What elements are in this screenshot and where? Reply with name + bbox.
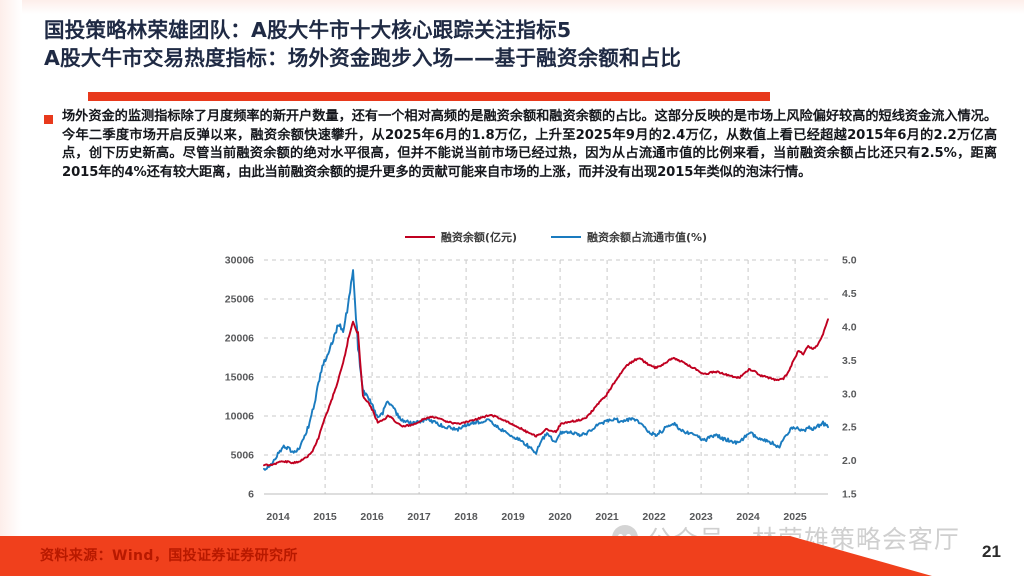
y-axis-left-tick: 30006	[225, 255, 254, 267]
x-axis-tick: 2019	[501, 511, 525, 523]
y-axis-left-tick: 5006	[231, 450, 255, 462]
x-axis-tick: 2014	[266, 511, 290, 523]
chart-container: 融资余额(亿元) 融资余额占流通市值(%) 650061000615006200…	[206, 226, 906, 532]
legend-label-0: 融资余额(亿元)	[441, 229, 517, 245]
chart-legend: 融资余额(亿元) 融资余额占流通市值(%)	[206, 226, 906, 248]
body-bullet-row: 场外资金的监测指标除了月度频率的新开户数量，还有一个相对高频的是融资余额和融资余…	[44, 108, 1010, 182]
x-axis-tick: 2018	[454, 511, 478, 523]
y-axis-right-tick: 4.0	[842, 321, 857, 333]
left-edge-wash	[0, 0, 22, 576]
y-axis-right-tick: 5.0	[842, 255, 857, 267]
legend-item-0: 融资余额(亿元)	[405, 229, 517, 245]
y-axis-left-tick: 6	[248, 489, 254, 501]
slide-root: 国投策略林荣雄团队：A股大牛市十大核心跟踪关注指标5 A股大牛市交易热度指标：场…	[0, 0, 1024, 576]
y-axis-left-tick: 15006	[225, 372, 254, 384]
legend-item-1: 融资余额占流通市值(%)	[551, 229, 707, 245]
y-axis-right-tick: 3.0	[842, 388, 857, 400]
chart-svg: 6500610006150062000625006300061.52.02.53…	[206, 252, 906, 532]
body-paragraph: 场外资金的监测指标除了月度频率的新开户数量，还有一个相对高频的是融资余额和融资余…	[62, 108, 997, 182]
y-axis-right-tick: 2.5	[842, 422, 857, 434]
y-axis-right-tick: 3.5	[842, 355, 857, 367]
source-text: 资料来源：Wind，国投证券证券研究所	[40, 545, 298, 565]
series-line-margin-balance	[264, 319, 828, 465]
square-bullet-icon	[44, 115, 53, 124]
y-axis-left-tick: 20006	[225, 333, 254, 345]
x-axis-tick: 2024	[736, 511, 760, 523]
y-axis-right-tick: 2.0	[842, 455, 857, 467]
top-edge-wash	[0, 0, 1024, 14]
y-axis-left-tick: 10006	[225, 411, 254, 423]
y-axis-right-tick: 1.5	[842, 489, 857, 501]
legend-swatch-line-icon-0	[405, 236, 435, 239]
page-title: 国投策略林荣雄团队：A股大牛市十大核心跟踪关注指标5 A股大牛市交易热度指标：场…	[44, 16, 1004, 72]
title-underline-bar	[88, 92, 770, 101]
y-axis-right-tick: 4.5	[842, 288, 857, 300]
title-line-1: 国投策略林荣雄团队：A股大牛市十大核心跟踪关注指标5	[44, 16, 1004, 44]
title-line-2: A股大牛市交易热度指标：场外资金跑步入场——基于融资余额和占比	[44, 44, 1004, 72]
chart-plot-area: 6500610006150062000625006300061.52.02.53…	[206, 252, 906, 532]
x-axis-tick: 2025	[783, 511, 807, 523]
legend-label-1: 融资余额占流通市值(%)	[587, 229, 707, 245]
x-axis-tick: 2022	[642, 511, 666, 523]
footer-bar: 资料来源：Wind，国投证券证券研究所	[0, 536, 1024, 576]
x-axis-tick: 2016	[360, 511, 384, 523]
legend-swatch-line-icon-1	[551, 236, 581, 239]
x-axis-tick: 2020	[548, 511, 572, 523]
x-axis-tick: 2023	[689, 511, 713, 523]
x-axis-tick: 2017	[407, 511, 431, 523]
y-axis-left-tick: 25006	[225, 294, 254, 306]
x-axis-tick: 2015	[313, 511, 337, 523]
series-line-occupancy-ratio	[264, 270, 828, 470]
page-number: 21	[982, 542, 1001, 562]
x-axis-tick: 2021	[595, 511, 619, 523]
